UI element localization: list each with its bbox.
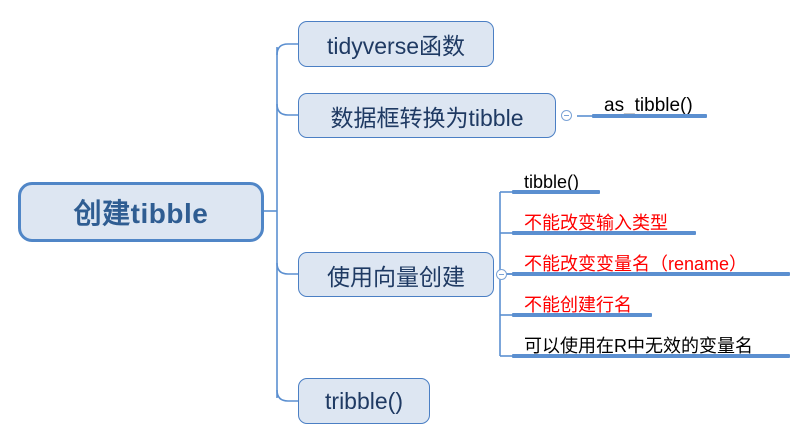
branch-node-tidyverse-functions[interactable]: tidyverse函数 — [298, 21, 494, 67]
leaf-underline-can-use-invalid-r-names — [512, 354, 790, 358]
mindmap-canvas: 创建tibble tidyverse函数 数据框转换为tibble as_tib… — [0, 0, 803, 442]
branch-node-label: tidyverse函数 — [327, 27, 465, 61]
collapse-toggle-convert-dataframe[interactable] — [561, 110, 572, 121]
leaf-underline-as-tibble — [592, 114, 707, 118]
branch-node-tribble[interactable]: tribble() — [298, 378, 430, 424]
leaf-underline-cannot-create-row-names — [512, 313, 652, 317]
leaf-label: as_tibble() — [592, 96, 693, 116]
collapse-toggle-create-from-vectors[interactable] — [496, 269, 507, 280]
branch-node-create-from-vectors[interactable]: 使用向量创建 — [298, 252, 494, 297]
leaf-as-tibble[interactable]: as_tibble() — [592, 86, 693, 116]
branch-node-label: 使用向量创建 — [327, 258, 465, 292]
root-node-label: 创建tibble — [74, 192, 209, 232]
leaf-cannot-rename-variables[interactable]: 不能改变变量名（rename） — [512, 246, 747, 274]
branch-node-convert-dataframe-to-tibble[interactable]: 数据框转换为tibble — [298, 93, 556, 138]
leaf-underline-cannot-rename-variables — [512, 272, 790, 276]
branch-node-label: 数据框转换为tibble — [331, 99, 524, 133]
leaf-underline-tibble — [512, 190, 600, 194]
branch-node-label: tribble() — [325, 388, 403, 415]
leaf-cannot-change-input-type[interactable]: 不能改变输入类型 — [512, 205, 668, 233]
leaf-tibble[interactable]: tibble() — [512, 164, 579, 192]
root-node[interactable]: 创建tibble — [18, 182, 264, 242]
leaf-can-use-invalid-r-names[interactable]: 可以使用在R中无效的变量名 — [512, 328, 753, 356]
leaf-cannot-create-row-names[interactable]: 不能创建行名 — [512, 287, 632, 315]
leaf-underline-cannot-change-input-type — [512, 231, 696, 235]
